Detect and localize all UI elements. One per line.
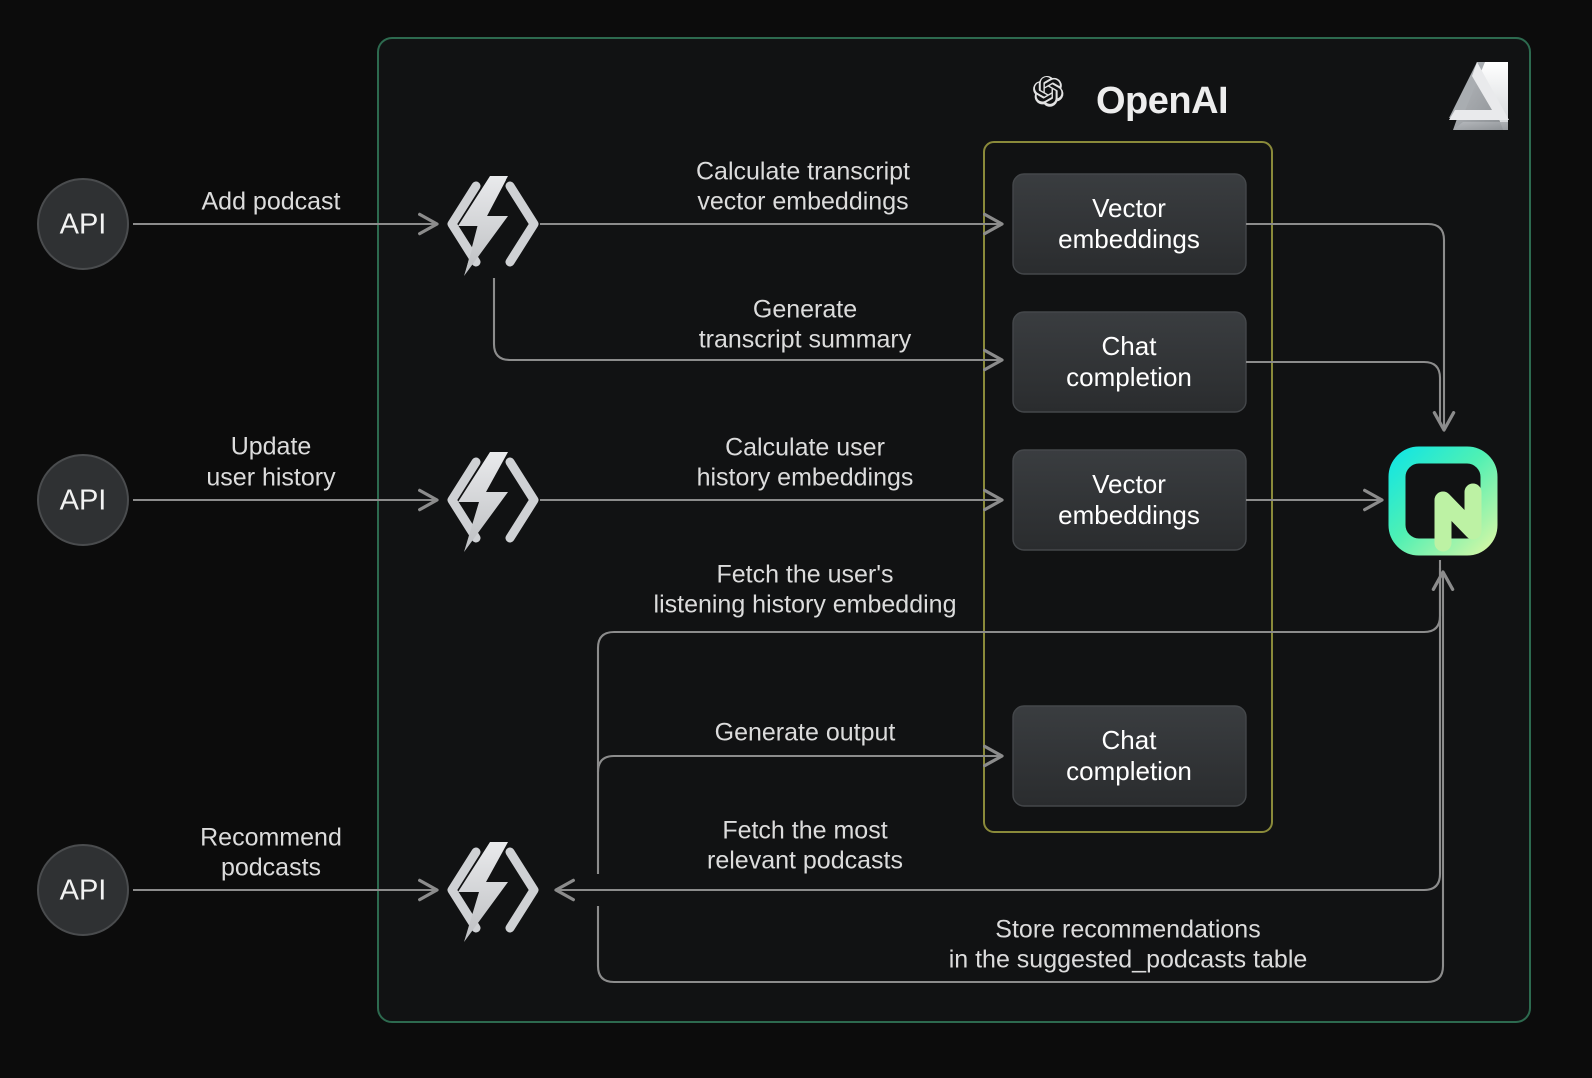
service-label-line1: Chat xyxy=(1102,725,1158,755)
edge-label-generate-output: Generate output xyxy=(715,719,896,747)
service-label-line1: Chat xyxy=(1102,331,1158,361)
api-node-add-podcast[interactable]: API xyxy=(38,179,128,269)
edge-label-update-user-2: user history xyxy=(206,464,336,492)
edge-label-store-recs-1: Store recommendations xyxy=(995,916,1260,944)
edge-label-store-recs-2: in the suggested_podcasts table xyxy=(949,946,1308,974)
service-label-line2: completion xyxy=(1066,362,1192,392)
edge-label-fetch-history-2: listening history embedding xyxy=(654,591,957,619)
diagram-canvas: OpenAI API API API Add podcast Update us… xyxy=(0,0,1592,1078)
openai-brand-label: OpenAI xyxy=(1096,80,1228,122)
api-node-update-user[interactable]: API xyxy=(38,455,128,545)
service-label-line1: Vector xyxy=(1092,469,1166,499)
openai-service-chat-completion-summary[interactable]: Chat completion xyxy=(1013,312,1246,412)
edge-label-recommend-2: podcasts xyxy=(221,854,321,882)
service-label-line2: embeddings xyxy=(1058,500,1200,530)
edge-label-generate-summary-1: Generate xyxy=(753,296,857,324)
openai-service-vector-embeddings-history[interactable]: Vector embeddings xyxy=(1013,450,1246,550)
edge-label-fetch-podcasts-2: relevant podcasts xyxy=(707,847,903,875)
edge-label-add-podcast: Add podcast xyxy=(202,188,341,216)
service-label-line2: completion xyxy=(1066,756,1192,786)
azure-boundary xyxy=(378,38,1530,1022)
edge-label-calc-history-1: Calculate user xyxy=(725,434,885,462)
edge-label-fetch-podcasts-1: Fetch the most xyxy=(722,817,887,845)
edge-label-generate-summary-2: transcript summary xyxy=(699,326,912,354)
api-label: API xyxy=(60,485,107,517)
api-label: API xyxy=(60,875,107,907)
edge-label-fetch-history-1: Fetch the user's xyxy=(716,561,893,589)
edge-label-calc-transcript-2: vector embeddings xyxy=(697,188,908,216)
edge-label-update-user-1: Update xyxy=(231,433,312,461)
edge-label-calc-history-2: history embeddings xyxy=(697,464,914,492)
service-label-line1: Vector xyxy=(1092,193,1166,223)
architecture-diagram: OpenAI API API API Add podcast Update us… xyxy=(0,0,1592,1078)
openai-service-vector-embeddings-transcript[interactable]: Vector embeddings xyxy=(1013,174,1246,274)
api-label: API xyxy=(60,209,107,241)
openai-service-chat-completion-output[interactable]: Chat completion xyxy=(1013,706,1246,806)
service-label-line2: embeddings xyxy=(1058,224,1200,254)
edge-label-recommend-1: Recommend xyxy=(200,824,342,852)
edge-label-calc-transcript-1: Calculate transcript xyxy=(696,158,910,186)
api-node-recommend[interactable]: API xyxy=(38,845,128,935)
